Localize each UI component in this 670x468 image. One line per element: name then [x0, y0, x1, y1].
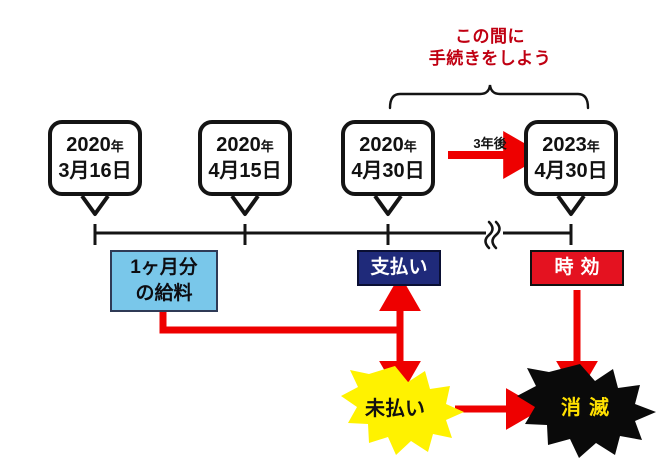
label-box-payment-text: 支払い: [370, 257, 427, 279]
instruction-heading-line1: この間に: [390, 26, 590, 48]
salary-to-payment-connector: [163, 312, 400, 330]
year-unit: 年: [404, 139, 417, 154]
label-box-salary-line1: 1ヶ月分: [130, 255, 198, 281]
axis-break-icon: [486, 222, 500, 248]
date-callout-payday-year: 2020年: [216, 133, 274, 159]
date-callout-expiry-year: 2023年: [542, 133, 600, 159]
label-box-salary-line2: の給料: [135, 281, 192, 307]
date-callout-expiry-day: 4月30日: [534, 159, 607, 184]
interval-label-three-years: 3年後: [455, 133, 525, 152]
label-box-payment: 支払い: [357, 250, 441, 286]
date-callout-duedate-day: 4月30日: [351, 159, 424, 184]
date-callout-duedate: 2020年 4月30日: [341, 120, 435, 196]
date-callout-duedate-year: 2020年: [359, 133, 417, 159]
date-callout-expiry: 2023年 4月30日: [524, 120, 618, 196]
starburst-label-extinguished: 消滅: [520, 391, 650, 420]
year-unit: 年: [111, 139, 124, 154]
date-callout-payday-day: 4月15日: [208, 159, 281, 184]
date-callout-start: 2020年 3月16日: [48, 120, 142, 196]
callout-tails: [82, 196, 584, 214]
label-box-prescription-text: 時効: [547, 257, 606, 279]
date-callout-start-day: 3月16日: [58, 159, 131, 184]
year-unit: 年: [261, 139, 274, 154]
starburst-label-unpaid: 未払い: [335, 392, 455, 421]
instruction-heading: この間に 手続きをしよう: [390, 26, 590, 70]
label-box-salary: 1ヶ月分 の給料: [110, 250, 218, 312]
span-bracket: [390, 85, 588, 108]
timeline-axis: [95, 222, 571, 248]
date-callout-start-year: 2020年: [66, 133, 124, 159]
date-callout-payday: 2020年 4月15日: [198, 120, 292, 196]
diagram-canvas: この間に 手続きをしよう 2020年 3月16日 2020年 4月15日 202…: [0, 0, 670, 468]
year-unit: 年: [587, 139, 600, 154]
instruction-heading-line2: 手続きをしよう: [390, 48, 590, 70]
label-box-prescription: 時効: [530, 250, 624, 286]
